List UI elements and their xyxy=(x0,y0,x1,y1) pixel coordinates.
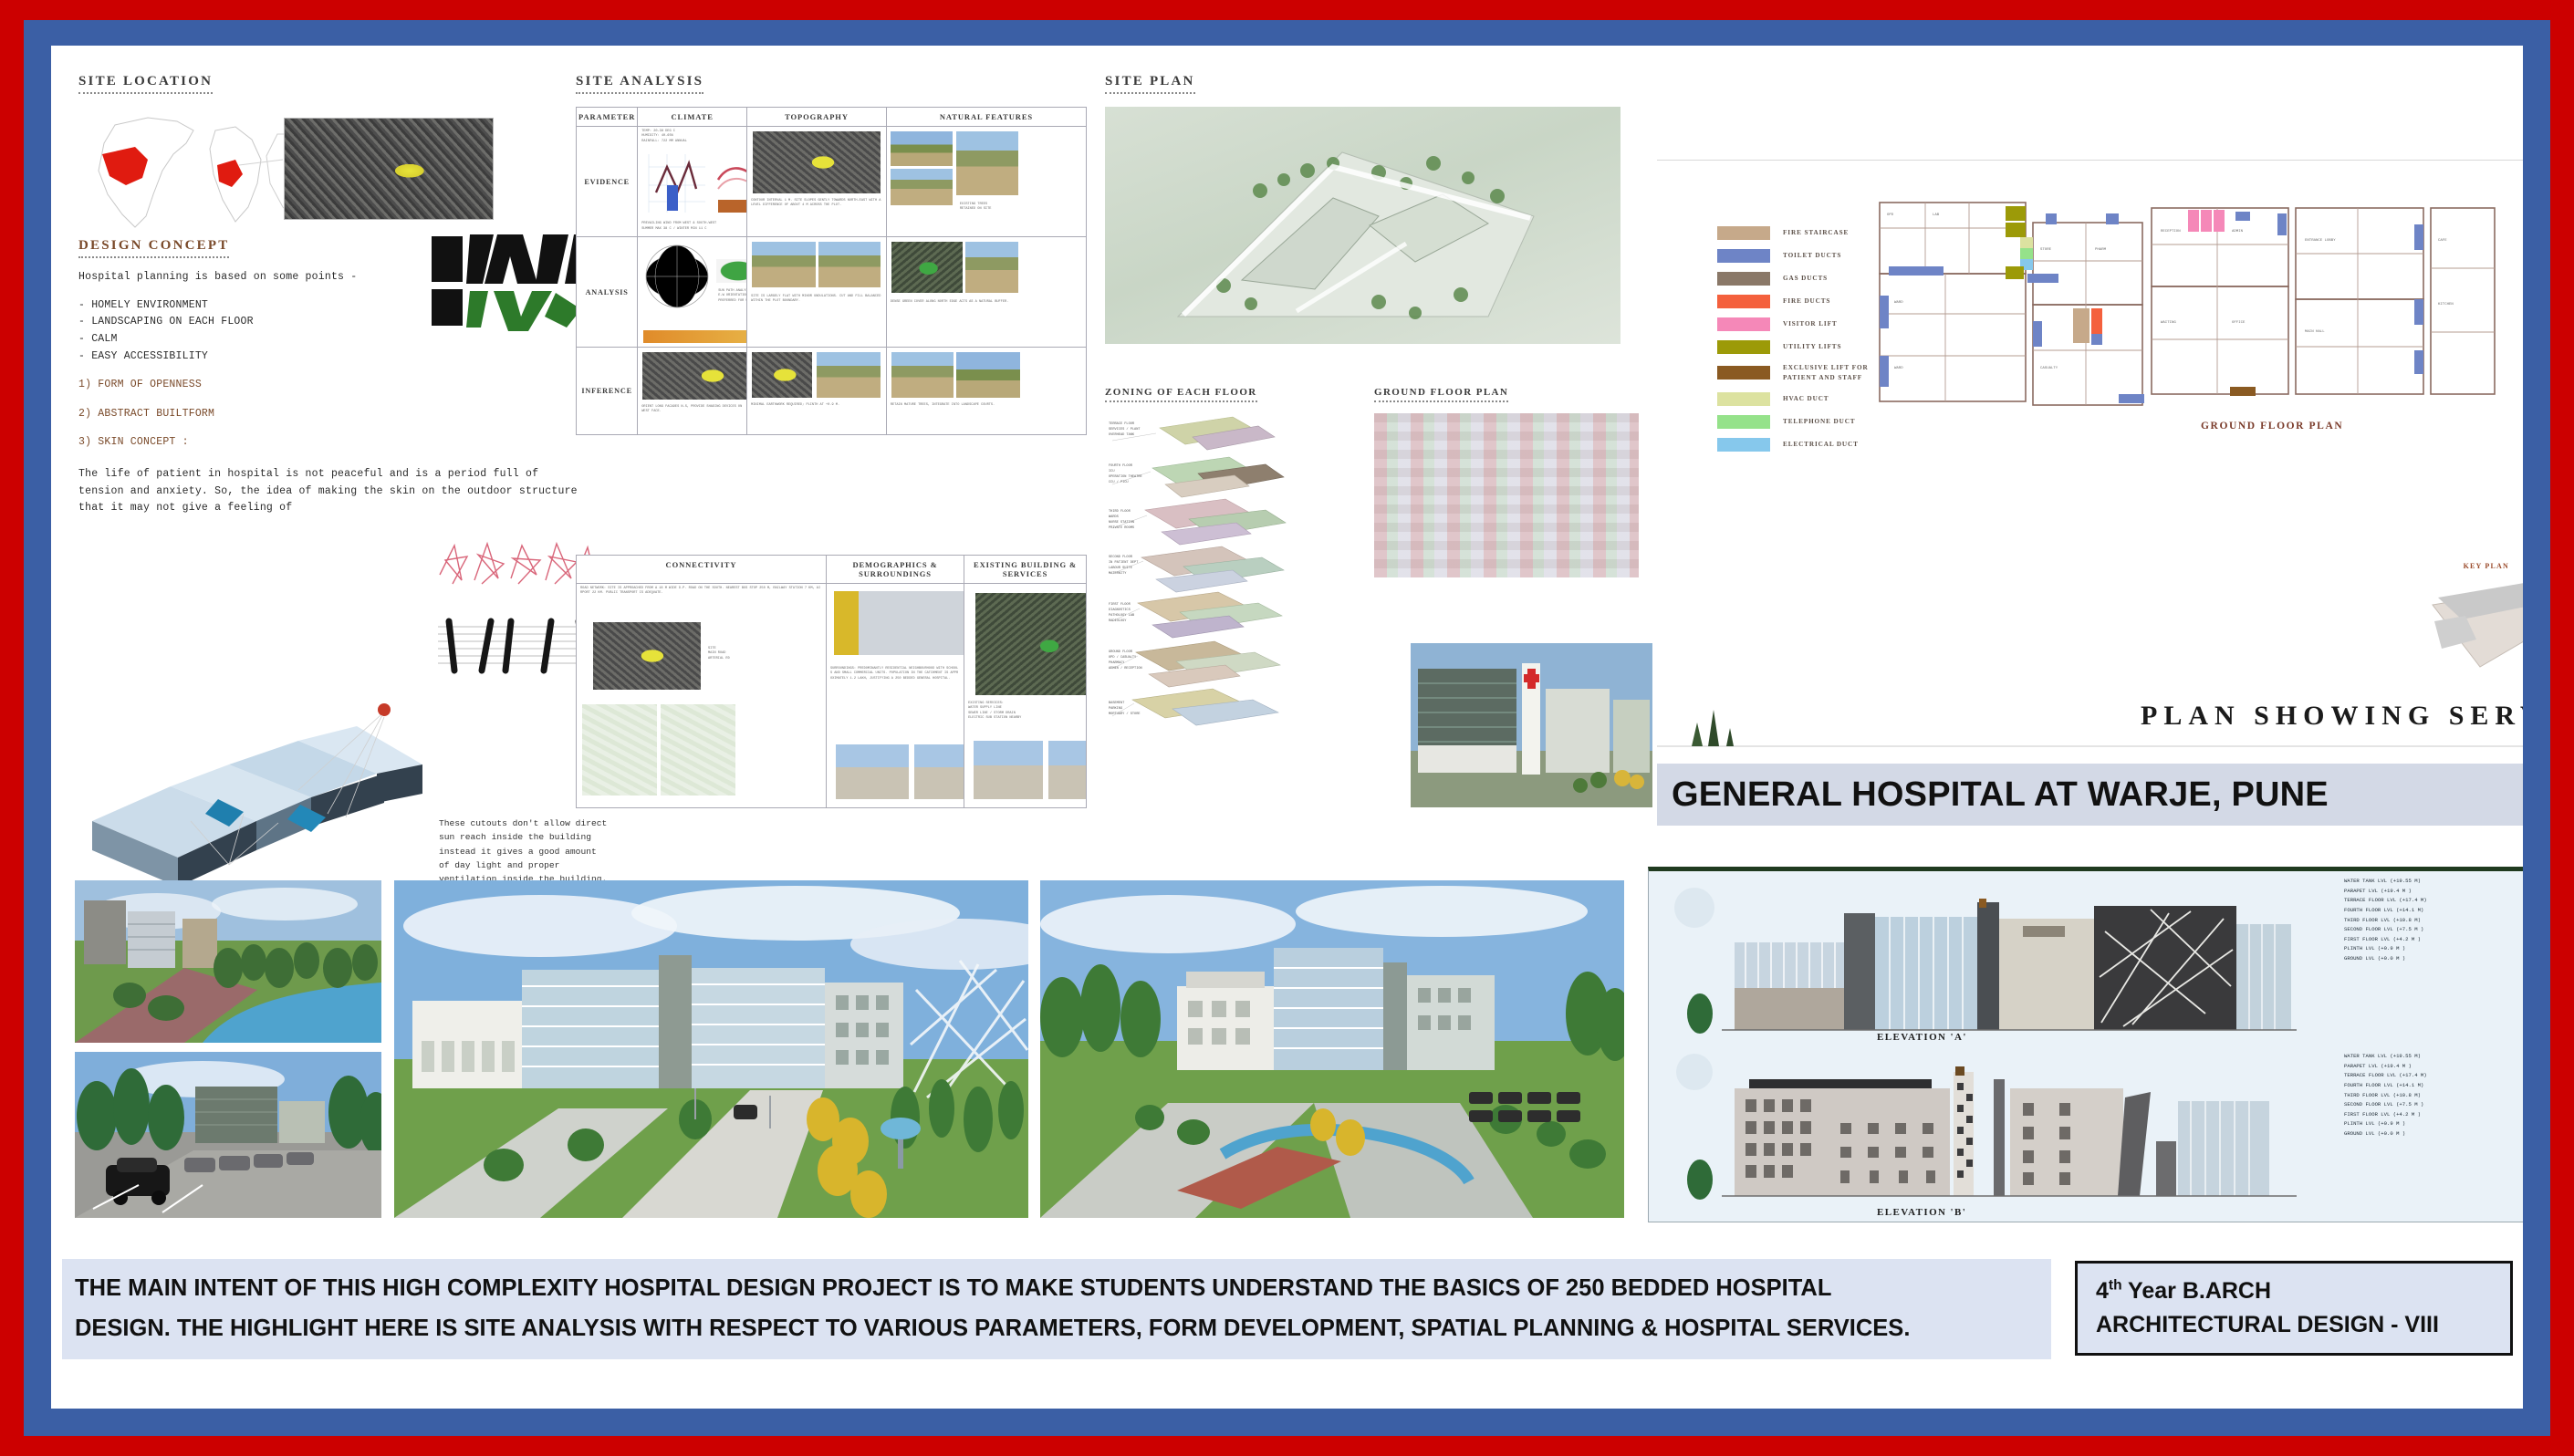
legend-swatch-fire-ducts xyxy=(1717,295,1770,308)
credit-course-line: ARCHITECTURAL DESIGN - VIII xyxy=(2096,1308,2510,1343)
svg-text:OFFICE: OFFICE xyxy=(2232,321,2246,325)
legend-label: HVAC DUCT xyxy=(1783,394,1829,404)
svg-text:SERVICES / PLANT: SERVICES / PLANT xyxy=(1109,427,1141,432)
level-label: WATER TANK LVL (+19.55 M) xyxy=(2344,877,2523,887)
legend-item: FIRE STAIRCASE xyxy=(1717,226,1869,240)
table-header-row: CONNECTIVITY DEMOGRAPHICS & SURROUNDINGS… xyxy=(577,556,1087,584)
credit-year-text: Year B.ARCH xyxy=(2128,1278,2271,1304)
level-label: SECOND FLOOR LVL (+7.5 M ) xyxy=(2344,925,2523,935)
legend-swatch-fire-staircase xyxy=(1717,226,1770,240)
site-analysis-table-2: CONNECTIVITY DEMOGRAPHICS & SURROUNDINGS… xyxy=(576,555,1087,808)
svg-text:ICU: ICU xyxy=(1109,470,1114,473)
svg-text:PARKING: PARKING xyxy=(1109,707,1122,711)
services-plan-panel: FIRE STAIRCASE TOILET DUCTS GAS DUCTS FI… xyxy=(1657,160,2523,748)
skin-concept-paragraph: The life of patient in hospital is not p… xyxy=(78,466,589,517)
svg-text:PATHOLOGY LAB: PATHOLOGY LAB xyxy=(1109,614,1135,618)
svg-text:MAIN HALL: MAIN HALL xyxy=(2305,330,2325,334)
level-label: FIRST FLOOR LVL (+4.2 M ) xyxy=(2344,1110,2523,1120)
site-location-section: SITE LOCATION xyxy=(78,73,608,244)
render-site-overview xyxy=(1040,880,1624,1218)
level-label: PLINTH LVL (+0.9 M ) xyxy=(2344,944,2523,954)
renders-row xyxy=(75,871,1626,1227)
svg-text:KITCHEN: KITCHEN xyxy=(2438,303,2454,307)
cell-demographics: WARJE POP.DENSITY PERSQ KM DATA SURROUND… xyxy=(826,584,964,808)
legend-swatch-telephone-duct xyxy=(1717,415,1770,429)
svg-text:FIRST FLOOR: FIRST FLOOR xyxy=(1109,603,1131,607)
svg-text:WAITING: WAITING xyxy=(2161,321,2176,325)
cell-climate-evidence: TEMP: 20-38 DEG CHUMIDITY: 40-65%RAINFAL… xyxy=(638,127,747,237)
level-label: TERRACE FLOOR LVL (+17.4 M) xyxy=(2344,896,2523,906)
india-location-map xyxy=(78,107,443,244)
legend-label: VISITOR LIFT xyxy=(1783,319,1838,329)
legend-item: ELECTRICAL DUCT xyxy=(1717,438,1869,452)
legend-label: ELECTRICAL DUCT xyxy=(1783,440,1859,450)
ground-floor-plan-title: GROUND FLOOR PLAN xyxy=(1374,387,1508,402)
cell-topography-analysis: SITE IS LARGELY FLAT WITH MINOR UNDULATI… xyxy=(747,237,887,348)
design-concept-title: DESIGN CONCEPT xyxy=(78,238,229,258)
legend-label: FIRE DUCTS xyxy=(1783,296,1830,307)
svg-text:MORTUARY / STORE: MORTUARY / STORE xyxy=(1109,712,1141,716)
massing-model-diagram xyxy=(83,684,466,894)
table-header-row: PARAMETER CLIMATE TOPOGRAPHY NATURAL FEA… xyxy=(577,108,1087,127)
credit-year-line: 4th Year B.ARCH xyxy=(2096,1274,2510,1309)
cell-natural-features-analysis: DENSE GREEN COVER ALONG NORTH EDGE ACTS … xyxy=(886,237,1086,348)
presentation-sheet: SITE LOCATION DESIGN CONCEPT Hospital pl… xyxy=(51,46,2523,1409)
legend-item: UTILITY LIFTS xyxy=(1717,340,1869,354)
legend-label: FIRE STAIRCASE xyxy=(1783,228,1849,238)
site-analysis-section: SITE ANALYSIS PARAMETER CLIMATE TOPOGRAP… xyxy=(576,73,1087,435)
legend-item: EXCLUSIVE LIFT FOR PATIENT AND STAFF xyxy=(1717,363,1869,383)
svg-text:DIAGNOSTICS: DIAGNOSTICS xyxy=(1109,608,1131,612)
elevations-panel: WATER TANK LVL (+19.55 M) PARAPET LVL (+… xyxy=(1648,867,2523,1222)
key-plan-diagram xyxy=(2425,576,2523,676)
cell-topography-evidence: CONTOUR INTERVAL 1 M. SITE SLOPES GENTLY… xyxy=(747,127,887,237)
bullet-item: - EASY ACCESSIBILITY xyxy=(78,348,589,366)
facade-louvre-sketch-icon xyxy=(434,616,599,678)
svg-text:THIRD FLOOR: THIRD FLOOR xyxy=(1109,510,1131,514)
svg-text:RADIOLOGY: RADIOLOGY xyxy=(1109,619,1127,623)
legend-item: VISITOR LIFT xyxy=(1717,317,1869,331)
site-location-title: SITE LOCATION xyxy=(78,74,213,94)
svg-text:TERRACE FLOOR: TERRACE FLOOR xyxy=(1109,422,1135,426)
legend-swatch-toilet-ducts xyxy=(1717,249,1770,263)
intent-line-2: DESIGN. THE HIGHLIGHT HERE IS SITE ANALY… xyxy=(75,1316,1910,1341)
svg-text:NURSE STATION: NURSE STATION xyxy=(1109,521,1134,525)
level-label: GROUND LVL (+0.0 M ) xyxy=(2344,1129,2523,1139)
site-analysis-table-2-section: CONNECTIVITY DEMOGRAPHICS & SURROUNDINGS… xyxy=(576,555,1087,808)
site-satellite-thumbnail xyxy=(284,118,494,220)
cell-existing-building: EXISTING SERVICES:WATER SUPPLY LINESEWER… xyxy=(964,584,1087,808)
cell-natural-features-inference: RETAIN MATURE TREES, INTEGRATE INTO LAND… xyxy=(886,348,1086,435)
skyline-decoration xyxy=(1657,704,2523,748)
svg-text:OPERATION THEATRE: OPERATION THEATRE xyxy=(1109,475,1142,479)
numbered-item: 3) SKIN CONCEPT : xyxy=(78,434,589,452)
svg-text:PHARM: PHARM xyxy=(2095,248,2107,252)
legend-label: TOILET DUCTS xyxy=(1783,251,1841,261)
legend-swatch-utility-lifts xyxy=(1717,340,1770,354)
legend-label: EXCLUSIVE LIFT FOR PATIENT AND STAFF xyxy=(1783,363,1869,383)
level-label: THIRD FLOOR LVL (+10.8 M) xyxy=(2344,1091,2523,1101)
svg-text:WARD: WARD xyxy=(1894,367,1903,370)
svg-text:BASEMENT: BASEMENT xyxy=(1109,702,1125,705)
project-title: GENERAL HOSPITAL AT WARJE, PUNE xyxy=(1657,775,2329,815)
cell-connectivity: ROAD NETWORK: SITE IS APPROACHED FROM A … xyxy=(577,584,827,808)
level-label: TERRACE FLOOR LVL (+17.4 M) xyxy=(2344,1071,2523,1081)
col-connectivity: CONNECTIVITY xyxy=(577,556,827,584)
col-parameter: PARAMETER xyxy=(577,108,638,127)
site-plan-section: SITE PLAN xyxy=(1105,73,1652,344)
svg-text:PHARMACY: PHARMACY xyxy=(1109,661,1125,665)
table-row: ROAD NETWORK: SITE IS APPROACHED FROM A … xyxy=(577,584,1087,808)
table-row: ANALYSIS SUN PATH ANALYSISE-W ORI xyxy=(577,237,1087,348)
svg-text:ADMIN / RECEPTION: ADMIN / RECEPTION xyxy=(1109,666,1142,671)
elevation-b-block: WATER TANK LVL (+19.55 M) PARAPET LVL (+… xyxy=(1649,1046,2523,1222)
elevation-a-block: WATER TANK LVL (+19.55 M) PARAPET LVL (+… xyxy=(1649,871,2523,1046)
svg-text:FOURTH FLOOR: FOURTH FLOOR xyxy=(1109,464,1133,468)
site-analysis-table: PARAMETER CLIMATE TOPOGRAPHY NATURAL FEA… xyxy=(576,107,1087,435)
elevation-b-levels: WATER TANK LVL (+19.55 M) PARAPET LVL (+… xyxy=(2344,1052,2523,1139)
cell-climate-analysis: SUN PATH ANALYSISE-W ORIENTATIONPREFERRE… xyxy=(638,237,747,348)
svg-text:CCU / PICU: CCU / PICU xyxy=(1109,480,1129,484)
legend-swatch-exclusive-lift xyxy=(1717,366,1770,380)
concept-logo-mark xyxy=(430,233,592,333)
svg-text:ADMIN: ADMIN xyxy=(2232,230,2244,234)
level-label: THIRD FLOOR LVL (+10.8 M) xyxy=(2344,916,2523,926)
site-analysis-title: SITE ANALYSIS xyxy=(576,74,703,94)
bullet-item: - CALM xyxy=(78,331,589,348)
level-label: PLINTH LVL (+0.9 M ) xyxy=(2344,1119,2523,1129)
legend-swatch-electrical-duct xyxy=(1717,438,1770,452)
level-label: PARAPET LVL (+19.4 M ) xyxy=(2344,887,2523,897)
legend-item: TOILET DUCTS xyxy=(1717,249,1869,263)
project-intent-text: THE MAIN INTENT OF THIS HIGH COMPLEXITY … xyxy=(62,1269,1923,1349)
svg-text:WARD: WARD xyxy=(1894,301,1903,305)
svg-text:RECEPTION: RECEPTION xyxy=(2161,230,2181,234)
col-topography: TOPOGRAPHY xyxy=(747,108,887,127)
site-plan-title: SITE PLAN xyxy=(1105,74,1195,94)
svg-text:OVERHEAD TANK: OVERHEAD TANK xyxy=(1109,433,1135,437)
svg-text:LABOUR SUITE: LABOUR SUITE xyxy=(1109,567,1132,570)
svg-text:CAFE: CAFE xyxy=(2438,239,2447,243)
col-climate: CLIMATE xyxy=(638,108,747,127)
svg-text:IN PATIENT DEPT: IN PATIENT DEPT xyxy=(1109,561,1139,565)
cell-climate-inference: ORIENT LONG FACADES N-S, PROVIDE SHADING… xyxy=(638,348,747,435)
svg-text:GROUND FLOOR: GROUND FLOOR xyxy=(1109,650,1133,654)
legend-label: TELEPHONE DUCT xyxy=(1783,417,1856,427)
level-label: FOURTH FLOOR LVL (+14.1 M) xyxy=(2344,906,2523,916)
elevation-a-levels: WATER TANK LVL (+19.55 M) PARAPET LVL (+… xyxy=(2344,877,2523,964)
svg-text:CASUALTY: CASUALTY xyxy=(2040,367,2058,370)
elevation-b-caption: ELEVATION 'B' xyxy=(1877,1207,1966,1218)
col-demographics: DEMOGRAPHICS & SURROUNDINGS xyxy=(826,556,964,584)
legend-swatch-visitor-lift xyxy=(1717,317,1770,331)
svg-text:ENTRANCE LOBBY: ENTRANCE LOBBY xyxy=(2305,239,2336,243)
legend-swatch-hvac-duct xyxy=(1717,392,1770,406)
level-label: SECOND FLOOR LVL (+7.5 M ) xyxy=(2344,1100,2523,1110)
svg-text:OPD: OPD xyxy=(1887,213,1894,217)
legend-item: FIRE DUCTS xyxy=(1717,295,1869,308)
level-label: FIRST FLOOR LVL (+4.2 M ) xyxy=(2344,935,2523,945)
site-plan-drawing xyxy=(1105,107,1620,344)
services-floor-plan-drawing: OPDLAB WARDWARD STOREPHARM CASUALTY RECE… xyxy=(1867,186,2506,423)
render-parking-view xyxy=(75,1052,381,1218)
zoning-section: ZONING OF EACH FLOOR xyxy=(1105,383,1360,760)
svg-text:SECOND FLOOR: SECOND FLOOR xyxy=(1109,556,1133,559)
hospital-entrance-render xyxy=(1411,643,1652,807)
legend-item: TELEPHONE DUCT xyxy=(1717,415,1869,429)
legend-swatch-gas-ducts xyxy=(1717,272,1770,286)
row-label-inference: INFERENCE xyxy=(577,348,638,435)
table-row: INFERENCE ORIENT LONG FACADES N-S, PROVI… xyxy=(577,348,1087,435)
project-title-band: GENERAL HOSPITAL AT WARJE, PUNE xyxy=(1657,764,2523,826)
elevation-a-caption: ELEVATION 'A' xyxy=(1877,1032,1967,1043)
numbered-item: 2) ABSTRACT BUILTFORM xyxy=(78,406,589,423)
ground-floor-plan-drawing xyxy=(1374,413,1639,577)
render-main-approach xyxy=(394,880,1028,1218)
services-legend: FIRE STAIRCASE TOILET DUCTS GAS DUCTS FI… xyxy=(1717,226,1869,461)
intent-line-1: THE MAIN INTENT OF THIS HIGH COMPLEXITY … xyxy=(75,1275,1831,1301)
table-row: EVIDENCE TEMP: 20-38 DEG CHUMIDITY: 40-6… xyxy=(577,127,1087,237)
svg-text:MATERNITY: MATERNITY xyxy=(1109,572,1127,576)
legend-item: GAS DUCTS xyxy=(1717,272,1869,286)
numbered-item: 1) FORM OF OPENNESS xyxy=(78,377,589,394)
level-label: WATER TANK LVL (+19.55 M) xyxy=(2344,1052,2523,1062)
legend-label: UTILITY LIFTS xyxy=(1783,342,1841,352)
zoning-exploded-diagram: TERRACE FLOORSERVICES / PLANT OVERHEAD T… xyxy=(1105,413,1351,760)
level-label: PARAPET LVL (+19.4 M ) xyxy=(2344,1062,2523,1072)
footer-row: THE MAIN INTENT OF THIS HIGH COMPLEXITY … xyxy=(51,1259,2523,1367)
legend-label: GAS DUCTS xyxy=(1783,274,1828,284)
zoning-title: ZONING OF EACH FLOOR xyxy=(1105,387,1257,402)
key-plan-label: KEY PLAN xyxy=(2464,562,2509,570)
skin-concept-sketch-icon xyxy=(434,538,599,593)
svg-text:STORE: STORE xyxy=(2040,248,2052,252)
course-credit-box: 4th Year B.ARCH ARCHITECTURAL DESIGN - V… xyxy=(2075,1261,2513,1356)
services-plan-caption: GROUND FLOOR PLAN xyxy=(2201,421,2343,432)
credit-year-number: 4 xyxy=(2096,1278,2109,1304)
project-intent-box: THE MAIN INTENT OF THIS HIGH COMPLEXITY … xyxy=(62,1259,2051,1359)
cell-topography-inference: MINIMAL EARTHWORK REQUIRED; PLINTH AT +0… xyxy=(747,348,887,435)
credit-year-suffix: th xyxy=(2109,1277,2122,1293)
render-aerial-landscape xyxy=(75,880,381,1043)
level-label: FOURTH FLOOR LVL (+14.1 M) xyxy=(2344,1081,2523,1091)
svg-text:WARDS: WARDS xyxy=(1109,515,1119,519)
svg-text:OPD / CASUALTY: OPD / CASUALTY xyxy=(1109,655,1137,660)
row-label-analysis: ANALYSIS xyxy=(577,237,638,348)
col-natural-features: NATURAL FEATURES xyxy=(886,108,1086,127)
row-label-evidence: EVIDENCE xyxy=(577,127,638,237)
level-label: GROUND LVL (+0.0 M ) xyxy=(2344,954,2523,964)
svg-text:PRIVATE ROOMS: PRIVATE ROOMS xyxy=(1109,526,1134,530)
ground-floor-plan-section: GROUND FLOOR PLAN xyxy=(1374,383,1648,577)
svg-text:LAB: LAB xyxy=(1933,213,1940,217)
legend-item: HVAC DUCT xyxy=(1717,392,1869,406)
col-existing-building: EXISTING BUILDING & SERVICES xyxy=(964,556,1087,584)
cell-natural-features-evidence: EXISTING TREESRETAINED ON SITE xyxy=(886,127,1086,237)
